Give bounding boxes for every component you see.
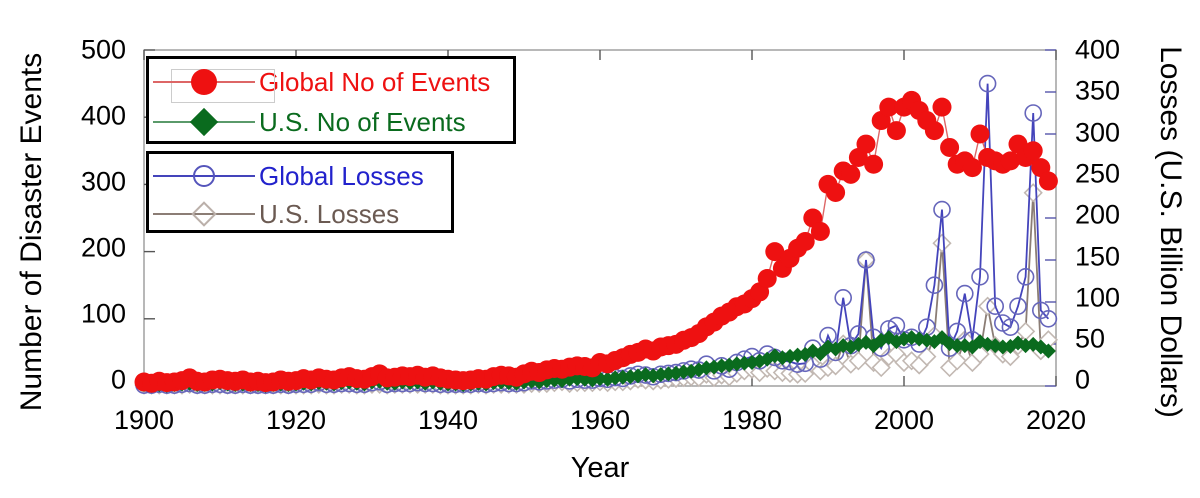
filled-diamond-icon (190, 108, 218, 136)
legend-label-us-events: U.S. No of Events (259, 109, 466, 135)
open-circle-icon (193, 165, 215, 187)
open-diamond-icon (191, 201, 216, 226)
legend-item-global-events[interactable]: Global No of Events (149, 63, 513, 101)
legend-label-us-losses: U.S. Losses (259, 201, 399, 227)
legend-item-global-losses[interactable]: Global Losses (149, 157, 451, 195)
disaster-events-losses-chart: Number of Disaster Events Losses (U.S. B… (0, 0, 1200, 498)
legend-label-global-events: Global No of Events (259, 69, 490, 95)
filled-circle-icon (191, 69, 217, 95)
legend-sample-us-events (149, 103, 259, 141)
legend-box-losses: Global Losses U.S. Losses (146, 151, 454, 233)
legend-label-global-losses: Global Losses (259, 163, 424, 189)
legend-sample-global-events (149, 63, 259, 101)
legend-sample-global-losses (149, 157, 259, 195)
legend-item-us-events[interactable]: U.S. No of Events (149, 103, 513, 141)
legend-box-events: Global No of Events U.S. No of Events (146, 56, 516, 144)
legend-item-us-losses[interactable]: U.S. Losses (149, 195, 451, 233)
legend-sample-us-losses (149, 195, 259, 233)
legend-inner-frame (171, 69, 275, 103)
